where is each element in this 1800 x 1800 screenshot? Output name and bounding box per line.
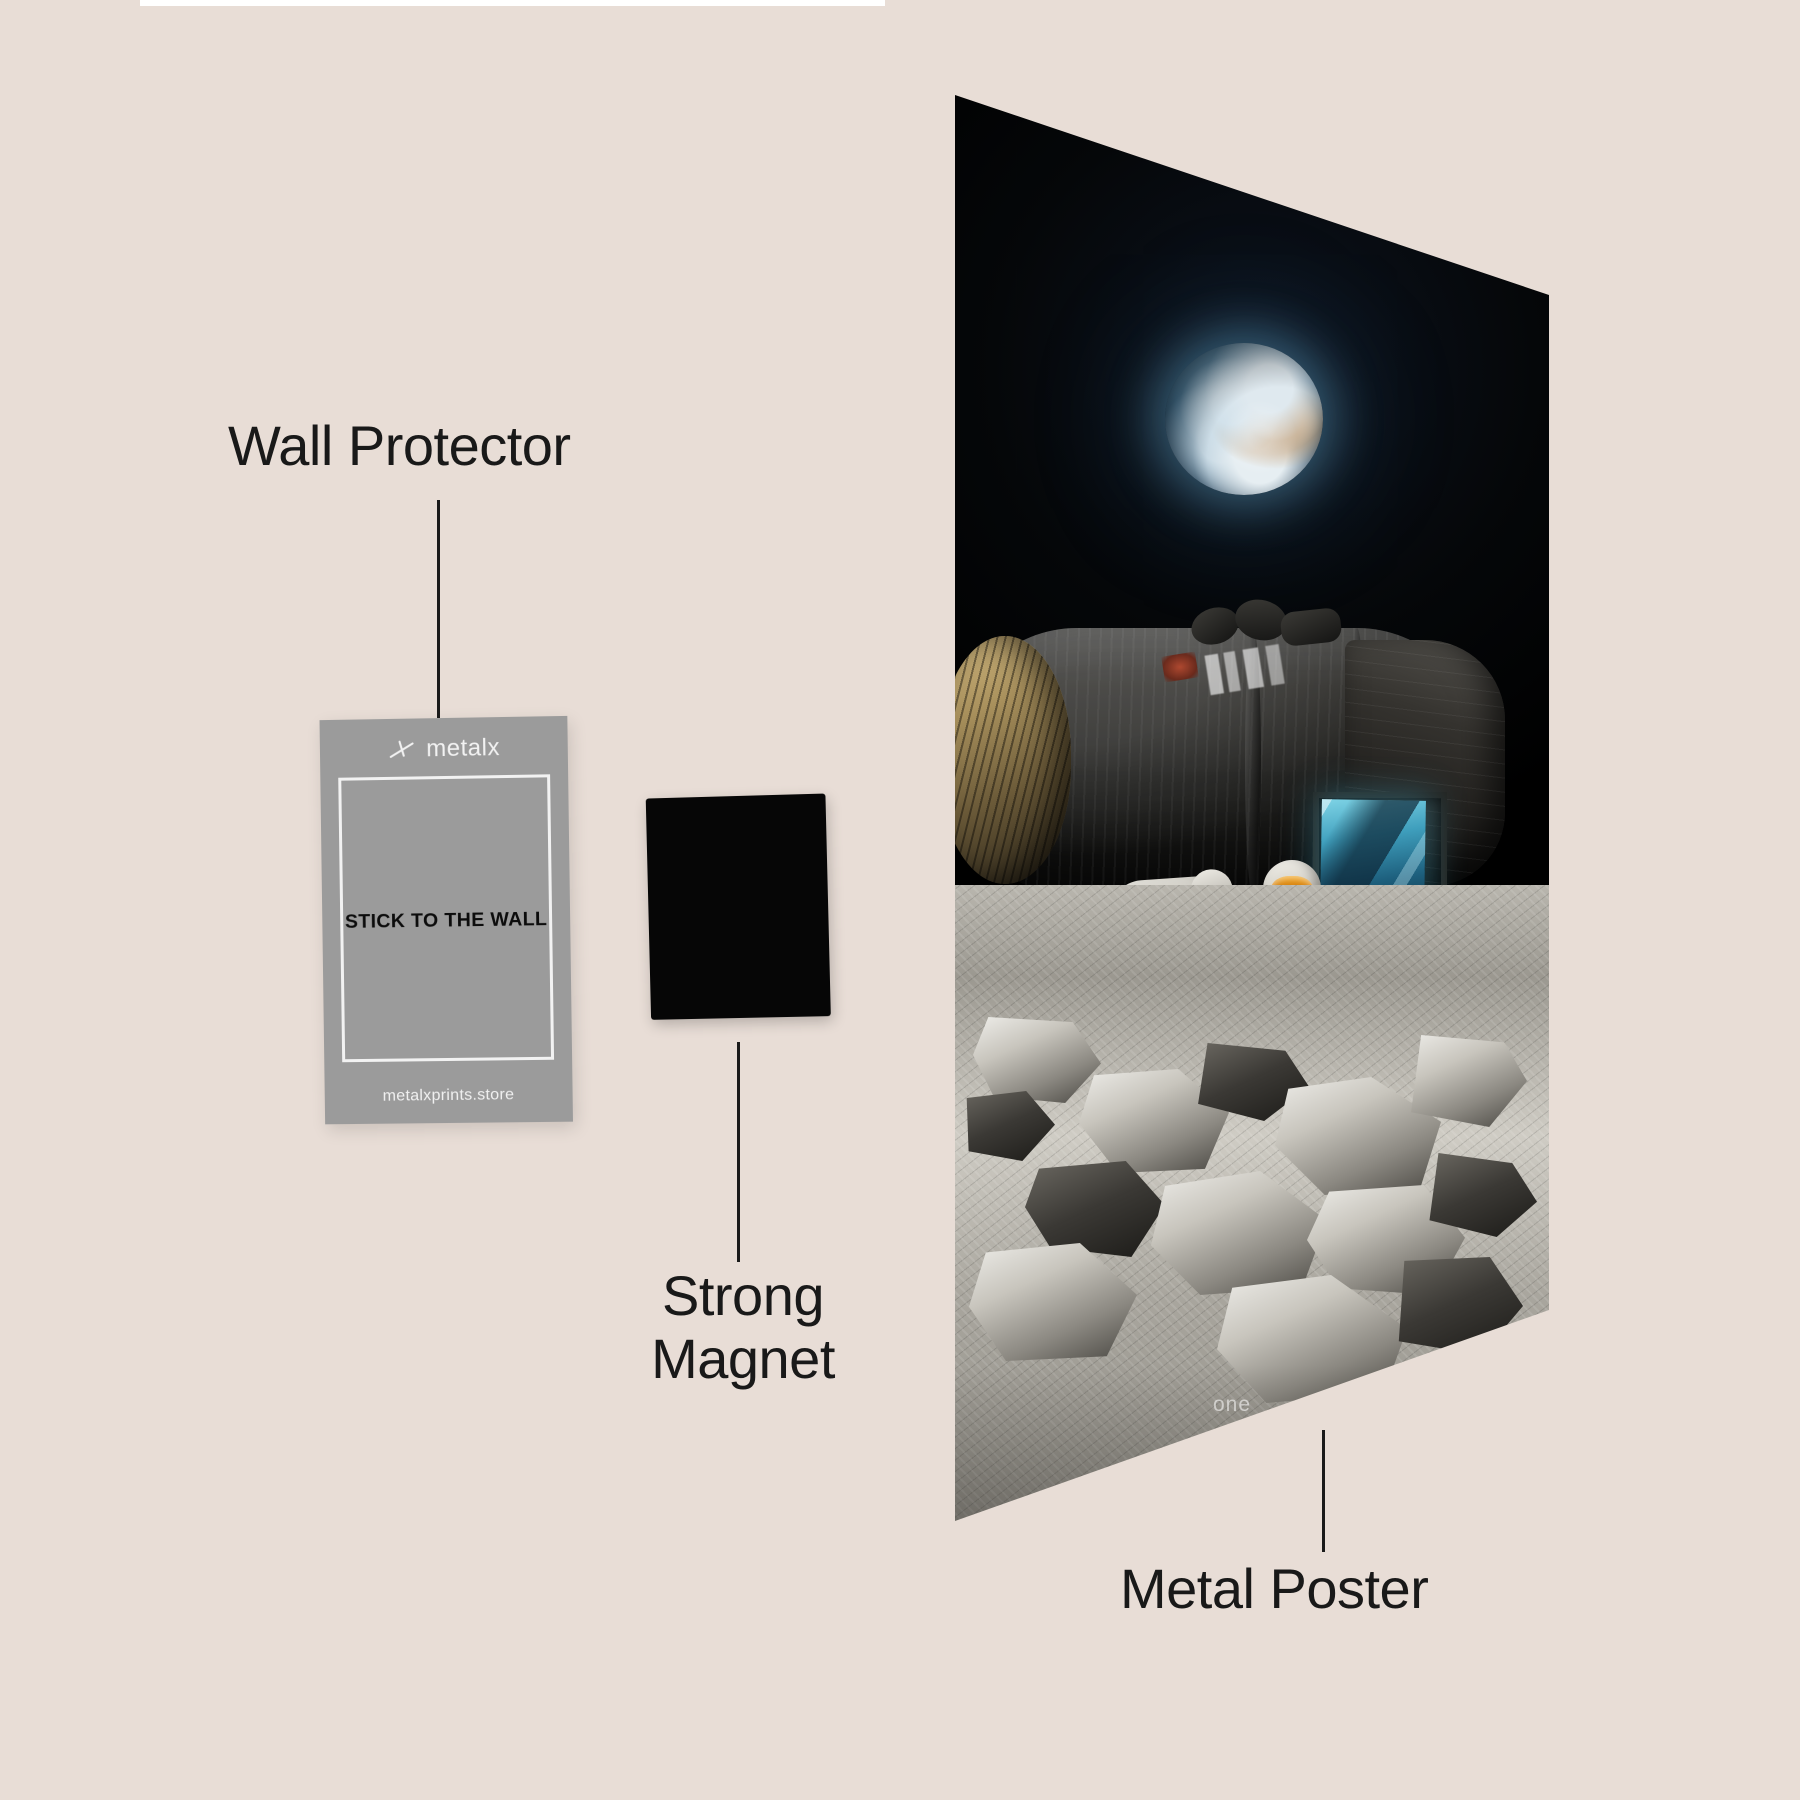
lunar-surface: one xyxy=(955,885,1549,1521)
top-white-strip xyxy=(140,0,885,6)
leader-line-strong-magnet xyxy=(737,1042,740,1262)
lunar-module-spacecraft xyxy=(955,610,1505,930)
infographic-canvas: Wall Protector metalx STICK TO THE WALL … xyxy=(0,0,1800,1800)
poster-watermark: one xyxy=(1213,1393,1251,1417)
moon-rock xyxy=(959,1091,1055,1161)
wall-protector-logo-text: metalx xyxy=(426,734,500,763)
strong-magnet-square xyxy=(646,794,831,1020)
metalx-cross-icon xyxy=(387,738,417,760)
callout-label-wall-protector: Wall Protector xyxy=(228,415,571,478)
moon-rock xyxy=(1151,1171,1327,1295)
lunar-dust-shadow xyxy=(955,1365,1549,1521)
leader-line-wall-protector xyxy=(437,500,440,718)
leader-line-metal-poster xyxy=(1322,1430,1325,1552)
wall-protector-url: metalxprints.store xyxy=(325,1086,573,1107)
callout-label-strong-magnet: Strong Magnet xyxy=(628,1265,858,1390)
moon-rock xyxy=(1385,1257,1523,1355)
wall-protector-headline: STICK TO THE WALL xyxy=(322,907,570,933)
moon-rock xyxy=(1401,1035,1527,1127)
callout-label-metal-poster: Metal Poster xyxy=(1120,1558,1428,1621)
moon-rock xyxy=(1025,1161,1165,1257)
moon-rock xyxy=(973,1017,1101,1103)
moon-rock xyxy=(969,1243,1137,1361)
poster-scene: one xyxy=(955,95,1549,1521)
metal-poster-artwork: one xyxy=(955,95,1549,1521)
module-red-marking xyxy=(1161,652,1199,683)
wall-protector-logo: metalx xyxy=(320,733,568,765)
earth-planet xyxy=(1165,343,1323,495)
wall-protector-card: metalx STICK TO THE WALL metalxprints.st… xyxy=(320,716,573,1124)
module-antenna-mount xyxy=(1279,607,1342,647)
